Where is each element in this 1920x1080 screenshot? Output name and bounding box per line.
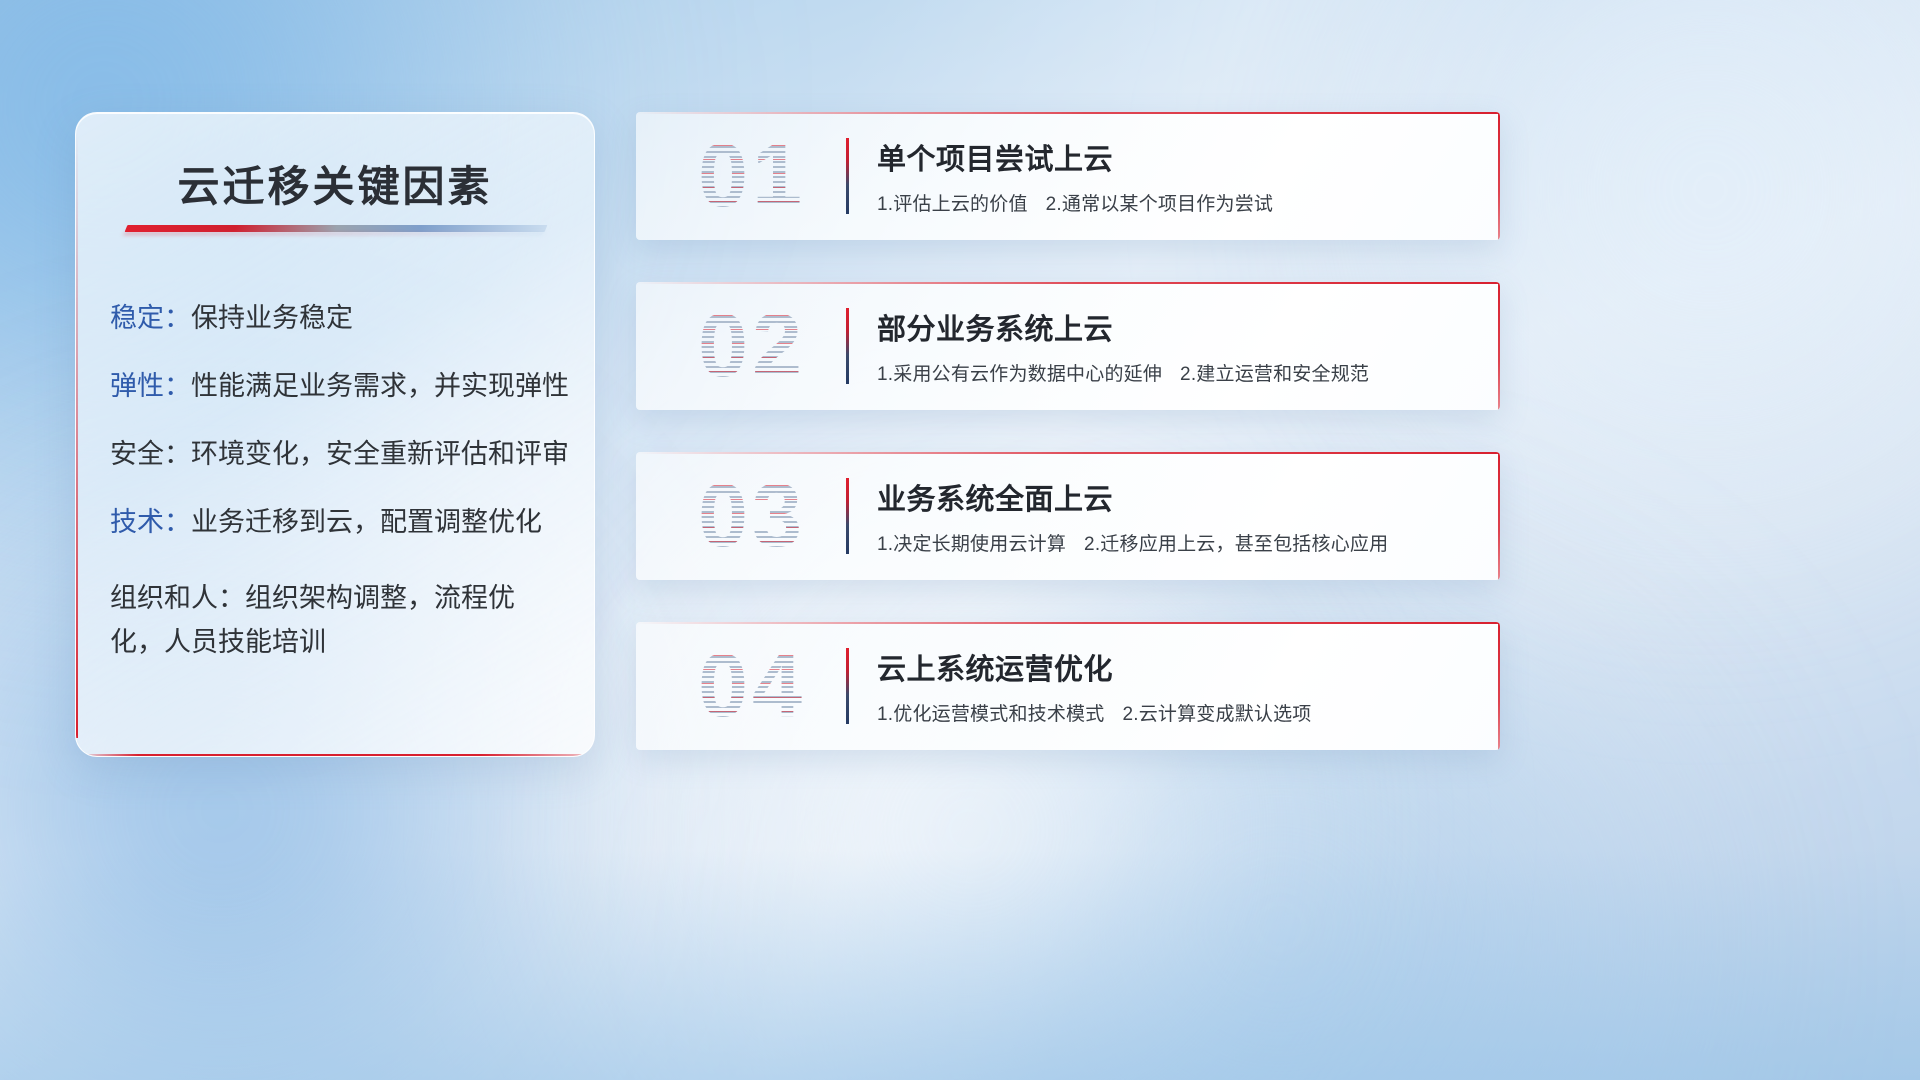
stage-card[interactable]: 02 02 部分业务系统上云 1.采用公有云作为数据中心的延伸2.建立运营和安全… (636, 282, 1500, 410)
stage-title: 单个项目尝试上云 (877, 136, 1474, 178)
key-factors-list: 稳定：保持业务稳定 弹性：性能满足业务需求，并实现弹性 安全：环境变化，安全重新… (110, 305, 564, 705)
stage-description: 1.评估上云的价值2.通常以某个项目作为尝试 (877, 189, 1474, 216)
stage-number: 02 (658, 301, 846, 391)
list-item-label: 安全： (110, 439, 191, 469)
stage-description-part-1: 1.决定长期使用云计算 (877, 534, 1066, 555)
stage-card[interactable]: 03 03 业务系统全面上云 1.决定长期使用云计算2.迁移应用上云，甚至包括核… (636, 452, 1500, 580)
list-item: 组织和人：组织架构调整，流程优化，人员技能培训 (110, 577, 564, 664)
stage-description-part-1: 1.采用公有云作为数据中心的延伸 (877, 364, 1162, 385)
key-factors-panel: 云迁移关键因素 稳定：保持业务稳定 弹性：性能满足业务需求，并实现弹性 安全：环… (75, 112, 595, 757)
stage-description-part-2: 2.迁移应用上云，甚至包括核心应用 (1084, 534, 1388, 555)
stage-description-part-2: 2.通常以某个项目作为尝试 (1046, 194, 1273, 215)
stage-card-list: 01 01 单个项目尝试上云 1.评估上云的价值2.通常以某个项目作为尝试 02… (636, 112, 1500, 792)
stage-card[interactable]: 04 04 云上系统运营优化 1.优化运营模式和技术模式2.云计算变成默认选项 (636, 622, 1500, 750)
stage-description: 1.决定长期使用云计算2.迁移应用上云，甚至包括核心应用 (877, 529, 1474, 556)
list-item: 安全：环境变化，安全重新评估和评审 (110, 441, 564, 468)
stage-title: 业务系统全面上云 (877, 476, 1474, 518)
list-item: 稳定：保持业务稳定 (110, 305, 564, 332)
stage-description-part-2: 2.建立运营和安全规范 (1180, 364, 1369, 385)
stage-description-part-1: 1.优化运营模式和技术模式 (877, 704, 1104, 725)
stage-description-part-2: 2.云计算变成默认选项 (1122, 704, 1311, 725)
list-item: 技术：业务迁移到云，配置调整优化 (110, 509, 564, 536)
title-underline-accent (125, 225, 548, 232)
list-item-label: 稳定： (110, 303, 191, 333)
list-item-label: 弹性： (110, 371, 191, 401)
stage-description-part-1: 1.评估上云的价值 (877, 194, 1028, 215)
background-bottom-fade (0, 850, 1920, 1080)
stage-description: 1.采用公有云作为数据中心的延伸2.建立运营和安全规范 (877, 359, 1474, 386)
stage-title: 部分业务系统上云 (877, 306, 1474, 348)
stage-divider (846, 138, 849, 214)
stage-number: 04 (658, 641, 846, 731)
stage-number: 01 (658, 131, 846, 221)
list-item-label: 技术： (110, 507, 191, 537)
stage-divider (846, 478, 849, 554)
stage-number: 03 (658, 471, 846, 561)
list-item-text: 性能满足业务需求，并实现弹性 (191, 371, 569, 401)
list-item-text: 业务迁移到云，配置调整优化 (191, 507, 542, 537)
stage-divider (846, 308, 849, 384)
stage-title: 云上系统运营优化 (877, 646, 1474, 688)
stage-card[interactable]: 01 01 单个项目尝试上云 1.评估上云的价值2.通常以某个项目作为尝试 (636, 112, 1500, 240)
list-item: 弹性：性能满足业务需求，并实现弹性 (110, 373, 564, 400)
stage-divider (846, 648, 849, 724)
page-title: 云迁移关键因素 (76, 153, 594, 214)
list-item-label: 组织和人： (110, 583, 245, 613)
list-item-text: 环境变化，安全重新评估和评审 (191, 439, 569, 469)
stage-description: 1.优化运营模式和技术模式2.云计算变成默认选项 (877, 699, 1474, 726)
list-item-text: 保持业务稳定 (191, 303, 353, 333)
